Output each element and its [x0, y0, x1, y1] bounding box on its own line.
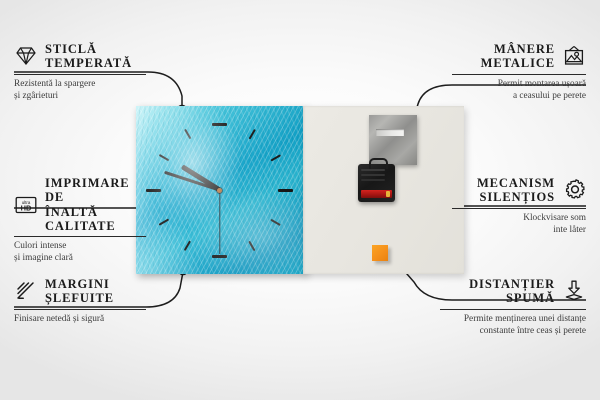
diamond-icon	[14, 44, 38, 68]
callout-imprimare-calitate: ultra HD IMPRIMARE DE ÎNALTĂ CALITATE Cu…	[14, 176, 146, 265]
callout-header: MÂNERE METALICE	[452, 42, 586, 71]
callout-divider	[14, 236, 146, 237]
polished-edges-icon	[14, 279, 38, 303]
clock-tick-9	[146, 189, 161, 192]
picture-frame-hanging-icon	[562, 44, 586, 68]
callout-subtitle: Permite menținerea unei distanțe constan…	[440, 314, 586, 337]
accessory-panel	[303, 106, 464, 274]
clock-tick-11	[184, 129, 191, 139]
clock-tick-5	[248, 241, 255, 251]
callout-title: STICLĂ TEMPERATĂ	[45, 42, 132, 71]
callout-distantier-spuma: DISTANȚIER SPUMĂ Permite menținerea unei…	[440, 277, 586, 337]
callout-manere-metalice: MÂNERE METALICE Permit montarea ușoară a…	[452, 42, 586, 102]
clock-tick-3	[278, 189, 293, 192]
clock-tick-12	[212, 123, 227, 126]
callout-subtitle: Permit montarea ușoară a ceasului pe per…	[452, 79, 586, 102]
callout-title: MARGINI ȘLEFUITE	[45, 277, 114, 306]
callout-mecanism-silentios: MECANISM SILENȚIOS Klockvisare som inte …	[452, 176, 586, 236]
callout-subtitle: Klockvisare som inte låter	[452, 213, 586, 236]
callout-margini-slefuite: MARGINI ȘLEFUITE Finisare netedă și sigu…	[14, 277, 146, 326]
callout-subtitle: Culori intense și imagine clară	[14, 241, 146, 264]
clock-tick-1	[248, 129, 255, 139]
down-arrow-stack-icon	[562, 279, 586, 303]
callout-title: MÂNERE METALICE	[481, 42, 555, 71]
callout-subtitle: Finisare netedă și sigură	[14, 314, 146, 326]
callout-divider	[452, 74, 586, 75]
callout-header: MARGINI ȘLEFUITE	[14, 277, 146, 306]
glass-wall-clock	[136, 106, 306, 274]
gear-icon	[562, 178, 586, 202]
product-image	[136, 106, 464, 274]
callout-header: STICLĂ TEMPERATĂ	[14, 42, 146, 71]
callout-title: DISTANȚIER SPUMĂ	[469, 277, 555, 306]
foam-spacer	[372, 245, 388, 261]
callout-divider	[452, 208, 586, 209]
clock-face	[136, 106, 303, 274]
clock-tick-4	[270, 219, 280, 226]
clock-tick-7	[184, 241, 191, 251]
callout-sticla-temperata: STICLĂ TEMPERATĂ Rezistentă la spargere …	[14, 42, 146, 102]
callout-header: MECANISM SILENȚIOS	[452, 176, 586, 205]
callout-divider	[440, 309, 586, 310]
callout-title: IMPRIMARE DE ÎNALTĂ CALITATE	[45, 176, 146, 233]
callout-title: MECANISM SILENȚIOS	[477, 176, 555, 205]
mechanism-bail	[369, 158, 388, 169]
clock-tick-10	[158, 154, 168, 161]
callout-subtitle: Rezistentă la spargere și zgârieturi	[14, 79, 146, 102]
clock-hour-hand	[181, 165, 221, 192]
ultra-hd-icon: ultra HD	[14, 193, 38, 217]
clock-tick-2	[270, 154, 280, 161]
clock-mechanism	[358, 164, 395, 202]
callout-divider	[14, 74, 146, 75]
mechanism-battery	[361, 190, 392, 198]
callout-header: ultra HD IMPRIMARE DE ÎNALTĂ CALITATE	[14, 176, 146, 233]
clock-minute-hand	[164, 170, 220, 191]
hanger-slot	[376, 129, 404, 136]
clock-tick-8	[158, 219, 168, 226]
svg-text:HD: HD	[21, 203, 32, 212]
clock-center-pin	[217, 188, 222, 193]
mechanism-ridges	[361, 169, 385, 171]
callout-header: DISTANȚIER SPUMĂ	[440, 277, 586, 306]
callout-divider	[14, 309, 146, 310]
clock-second-hand	[219, 190, 220, 254]
infographic-canvas: STICLĂ TEMPERATĂ Rezistentă la spargere …	[0, 0, 600, 400]
clock-tick-6	[212, 255, 227, 258]
